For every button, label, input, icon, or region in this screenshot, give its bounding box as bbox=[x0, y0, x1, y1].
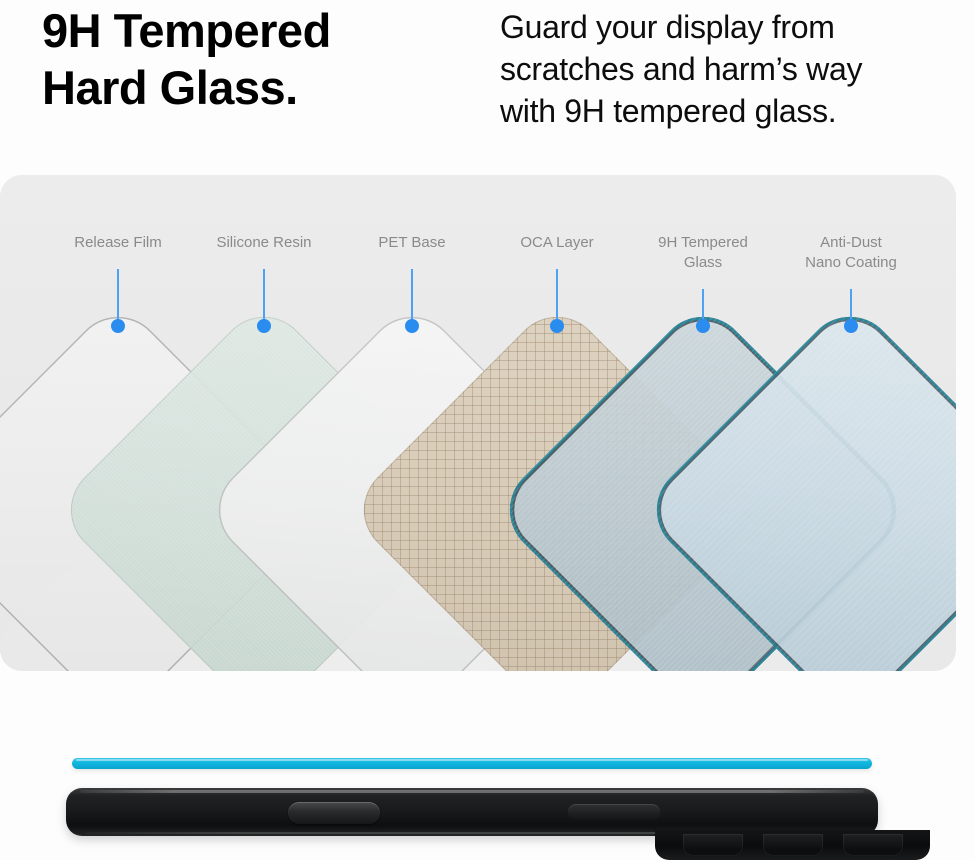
callout-dot bbox=[257, 319, 271, 333]
header: 9H Tempered Hard Glass. Guard your displ… bbox=[0, 0, 975, 160]
callout-dot bbox=[550, 319, 564, 333]
headline-line-2: Hard Glass. bbox=[42, 59, 482, 116]
screen-protector-strip bbox=[72, 758, 872, 769]
callout-dot bbox=[111, 319, 125, 333]
callout-dot bbox=[844, 319, 858, 333]
callout-stem bbox=[411, 269, 413, 325]
callout-anti-dust-nano-coating: Anti-Dust Nano Coating bbox=[756, 233, 946, 273]
callout-stem bbox=[556, 269, 558, 325]
camera-lens-icon bbox=[843, 834, 903, 856]
phone-top-highlight bbox=[80, 790, 864, 793]
headline-line-1: 9H Tempered bbox=[42, 2, 482, 59]
layer-diagram-panel: Release Film Silicone Resin PET Base OCA… bbox=[0, 175, 956, 671]
phone-edge-profile bbox=[66, 788, 878, 836]
subhead-line-2: scratches and harm’s way bbox=[500, 48, 960, 90]
camera-lens-icon bbox=[683, 834, 743, 856]
phone-camera-bump bbox=[655, 830, 930, 860]
product-photo-area bbox=[0, 700, 975, 860]
page-subtitle: Guard your display from scratches and ha… bbox=[500, 6, 960, 132]
phone-side-button bbox=[568, 804, 660, 820]
phone-power-button bbox=[288, 802, 380, 824]
subhead-line-3: with 9H tempered glass. bbox=[500, 90, 960, 132]
callout-dot bbox=[405, 319, 419, 333]
subhead-line-1: Guard your display from bbox=[500, 6, 960, 48]
page-title: 9H Tempered Hard Glass. bbox=[42, 2, 482, 116]
callout-stem bbox=[263, 269, 265, 325]
callout-stem bbox=[117, 269, 119, 325]
camera-lens-icon bbox=[763, 834, 823, 856]
callout-label: Anti-Dust Nano Coating bbox=[756, 233, 946, 273]
callout-dot bbox=[696, 319, 710, 333]
